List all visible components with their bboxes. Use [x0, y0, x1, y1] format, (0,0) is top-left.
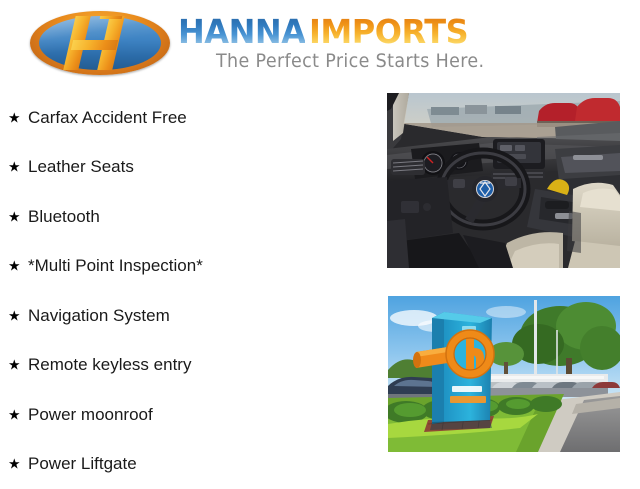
list-item: ★ Power moonroof [0, 390, 380, 440]
brand-name-hanna: HANNA [178, 15, 305, 49]
feature-label: Power Liftgate [28, 454, 137, 474]
feature-label: Leather Seats [28, 157, 134, 177]
star-icon: ★ [8, 209, 21, 223]
brand-tagline: The Perfect Price Starts Here. [216, 50, 484, 72]
list-item: ★ *Multi Point Inspection* [0, 242, 380, 292]
star-icon: ★ [8, 457, 21, 471]
star-icon: ★ [8, 407, 21, 421]
brand-header: HANNAIMPORTS The Perfect Price Starts He… [0, 0, 640, 88]
list-item: ★ Carfax Accident Free [0, 93, 380, 143]
list-item: ★ Leather Seats [0, 143, 380, 193]
feature-label: Remote keyless entry [28, 355, 191, 375]
list-item: ★ Power Liftgate [0, 440, 380, 489]
list-item: ★ Bluetooth [0, 192, 380, 242]
star-icon: ★ [8, 160, 21, 174]
vehicle-features-list: ★ Carfax Accident Free ★ Leather Seats ★… [0, 93, 380, 489]
star-icon: ★ [8, 358, 21, 372]
vehicle-interior-illustration [387, 93, 620, 268]
feature-label: Power moonroof [28, 405, 153, 425]
feature-label: Carfax Accident Free [28, 108, 187, 128]
list-item: ★ Remote keyless entry [0, 341, 380, 391]
feature-label: Bluetooth [28, 207, 100, 227]
star-icon: ★ [8, 110, 21, 124]
star-icon: ★ [8, 308, 21, 322]
feature-label: *Multi Point Inspection* [28, 256, 203, 276]
brand-wordmark: HANNAIMPORTS [178, 15, 474, 49]
brand-name-imports: IMPORTS [309, 15, 468, 49]
list-item: ★ Navigation System [0, 291, 380, 341]
logo-h-letter [39, 16, 161, 70]
vehicle-interior-photo [387, 93, 620, 268]
hanna-oval-h-logo-icon [30, 11, 170, 75]
dealership-sign-photo [388, 296, 620, 452]
dealership-sign-illustration [388, 296, 620, 452]
feature-label: Navigation System [28, 306, 170, 326]
star-icon: ★ [8, 259, 21, 273]
